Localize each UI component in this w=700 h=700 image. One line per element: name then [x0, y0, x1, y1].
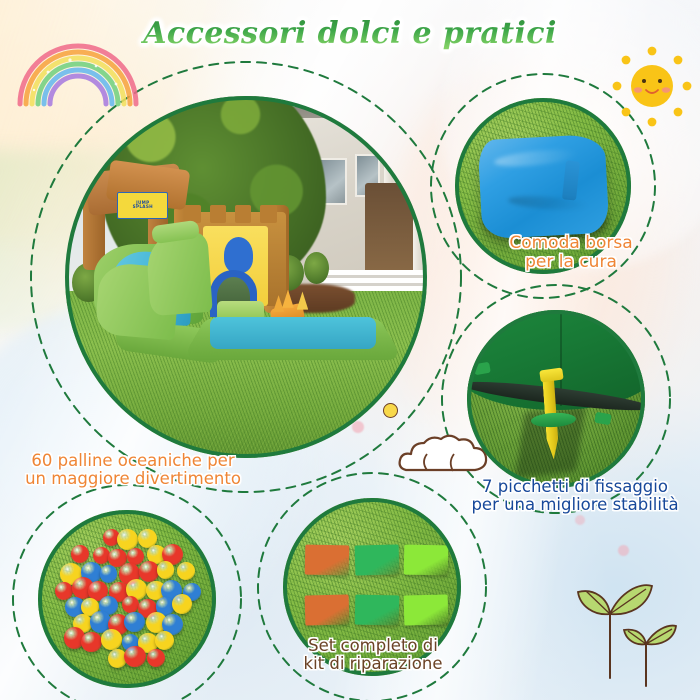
ocean-ball	[124, 646, 145, 667]
ocean-ball	[81, 632, 102, 653]
ground-stake-photo	[467, 310, 645, 488]
ocean-ball	[100, 565, 117, 582]
caption-ground-stakes: 7 picchetti di fissaggio per una miglior…	[452, 478, 698, 515]
repair-patch	[355, 595, 400, 626]
jump-splash-sign: JUMP SPLASH	[117, 192, 168, 219]
ocean-balls-photo	[38, 510, 216, 688]
caption-carry-bag: Comoda borsa per la cura	[455, 234, 687, 272]
repair-patch	[355, 544, 400, 575]
castle-merlon	[235, 205, 251, 223]
pink-dot-icon	[618, 545, 629, 556]
ocean-ball	[177, 562, 195, 580]
sign-line-2: SPLASH	[133, 205, 153, 209]
ocean-ball	[147, 649, 165, 667]
castle-merlon	[260, 205, 276, 223]
ocean-ball	[101, 629, 122, 650]
repair-patch	[404, 594, 449, 625]
inflatable-pool-water	[210, 317, 377, 350]
dinosaur-graphic	[224, 237, 253, 273]
repair-patch	[305, 545, 350, 576]
ocean-ball	[71, 545, 89, 563]
hero-product-photo: JUMP SPLASH	[65, 96, 427, 458]
infographic-canvas: JUMP SPLASH Comoda borsa per la cura	[0, 0, 700, 700]
caption-repair-kit: Set completo di kit di riparazione	[266, 637, 480, 674]
page-title: Accessori dolci e pratici	[0, 16, 700, 51]
blue-carry-bag	[477, 133, 609, 238]
house-column	[413, 139, 427, 269]
pink-dot-icon	[575, 515, 585, 525]
ocean-ball	[124, 612, 144, 632]
slide-rail-right	[146, 231, 213, 315]
repair-patch	[404, 545, 449, 576]
house-door	[365, 183, 412, 277]
caption-ocean-balls: 60 palline oceaniche per un maggiore div…	[2, 452, 264, 489]
castle-merlon	[210, 205, 226, 223]
sprout-icon	[574, 578, 696, 694]
repair-patch	[305, 594, 350, 625]
